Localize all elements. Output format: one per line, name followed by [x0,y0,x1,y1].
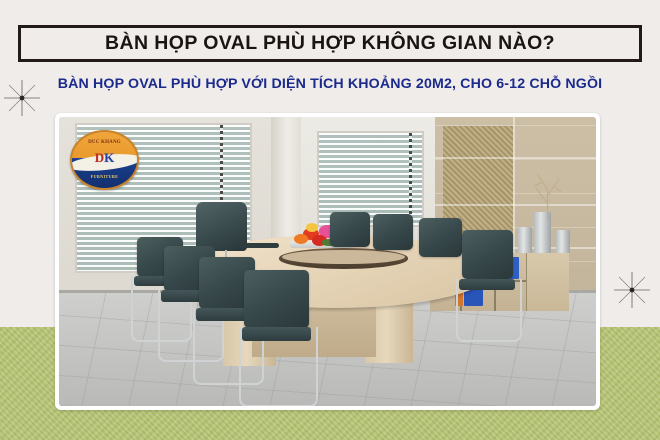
blind-cord-back [409,133,412,215]
logo-monogram-k: K [104,150,114,165]
chair-frame-l4 [239,327,318,406]
flower-yellow [306,223,318,232]
chair-back-r1 [462,230,513,279]
chair-frame-r1 [456,279,522,342]
conference-room-photo: DUC KHANG DK FURNITURE [59,117,596,406]
chair-back-l4 [244,270,308,328]
vase-short-1 [518,227,532,253]
page-subtitle: BÀN HỌP OVAL PHÙ HỢP VỚI DIỆN TÍCH KHOẢN… [0,76,660,92]
logo-bottom-text: FURNITURE [72,174,138,179]
vase-short-2 [556,230,570,253]
executive-chair-arm [239,243,279,249]
product-photo-card: DUC KHANG DK FURNITURE [55,113,600,410]
wood-panel-line-1 [435,157,596,159]
poster-canvas: BÀN HỌP OVAL PHÙ HỢP KHÔNG GIAN NÀO? BÀN… [0,0,660,440]
decorative-branches-icon [510,163,585,221]
brand-logo-badge: DUC KHANG DK FURNITURE [70,130,140,190]
window-blinds-back [319,133,422,224]
logo-monogram: DK [72,151,138,164]
logo-monogram-d: D [95,150,104,165]
page-title: BÀN HỌP OVAL PHÙ HỢP KHÔNG GIAN NÀO? [105,34,555,54]
logo-top-text: DUC KHANG [72,140,138,145]
chair-back-b2 [373,214,413,250]
title-box: BÀN HỌP OVAL PHÙ HỢP KHÔNG GIAN NÀO? [18,25,642,62]
chair-back-b1 [330,212,370,247]
cabinet-door [526,253,569,311]
chair-back-b3 [419,218,462,257]
